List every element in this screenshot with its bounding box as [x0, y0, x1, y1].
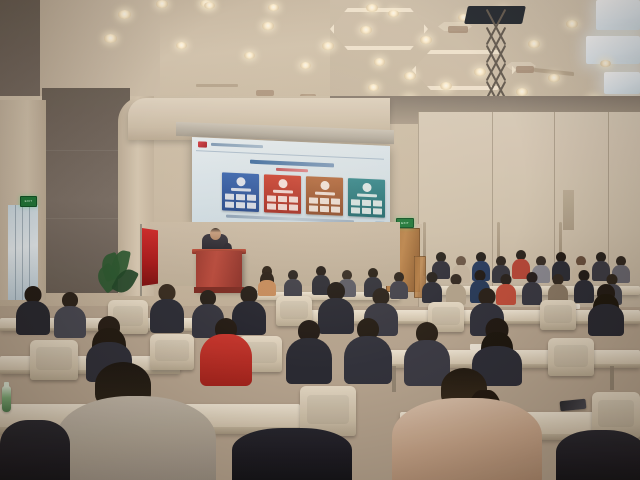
skylight-panel-3: [604, 72, 640, 94]
downlight: [176, 42, 187, 49]
skylight-panel-2: [586, 36, 640, 64]
slide-panel-blue: [222, 172, 259, 212]
lecture-hall-photo: EXIT EXIT: [0, 0, 640, 480]
downlight: [244, 52, 255, 59]
torso: [0, 420, 70, 480]
audience-member: [286, 320, 332, 382]
downlight: [528, 40, 540, 48]
panel-badge-icon: [362, 183, 371, 192]
torso: [422, 282, 442, 303]
downlight: [300, 62, 311, 69]
slide-logo-icon: [198, 141, 207, 147]
panel-grid: [351, 199, 382, 214]
downlight: [600, 60, 611, 67]
downlight: [566, 20, 578, 28]
downlight: [404, 72, 416, 80]
torso-gray-sweater: [56, 396, 216, 480]
audience-member: [422, 272, 442, 302]
slide-subtitle-bar: [276, 168, 308, 172]
torso: [232, 428, 352, 480]
panel-caption: [315, 192, 335, 196]
panel-grid: [267, 195, 298, 210]
audience-member: [284, 270, 302, 296]
torso: [556, 430, 640, 480]
torso: [284, 279, 302, 297]
slide-title-bar: [250, 160, 334, 168]
downlight: [268, 4, 279, 11]
hex-coffer-1: [330, 8, 428, 50]
downlight: [388, 10, 399, 17]
downlight: [156, 0, 168, 8]
skylight-panel-1: [596, 0, 640, 30]
torso: [286, 338, 332, 384]
downlight: [516, 88, 528, 96]
projection-screen: [192, 137, 390, 231]
downlight: [204, 2, 215, 9]
torso: [54, 306, 86, 338]
ceiling-vent-3: [448, 26, 468, 33]
slide-header-rule: [196, 150, 384, 160]
audience-member: [344, 318, 392, 382]
water-bottle[interactable]: [2, 386, 11, 412]
foreground-person-beige-hoodie: [392, 368, 542, 480]
audience-member: [54, 292, 86, 336]
presenter-head: [210, 228, 221, 240]
potted-plant: [96, 248, 138, 300]
panel-caption: [273, 190, 293, 194]
chair[interactable]: [548, 338, 594, 376]
downlight: [368, 84, 379, 91]
panel-badge-icon: [236, 177, 245, 186]
torso: [16, 301, 50, 335]
downlight: [262, 22, 274, 30]
audience-member: [588, 284, 624, 334]
audience-member: [522, 272, 542, 304]
foreground-person-gray-sweater: [56, 362, 216, 480]
foreground-person-dark-left: [0, 420, 70, 480]
panel-grid: [309, 197, 340, 212]
downlight: [420, 36, 432, 44]
podium: [196, 251, 242, 291]
downlight: [548, 74, 560, 82]
torso-beige-hoodie: [392, 398, 542, 480]
exit-sign-label: EXIT: [21, 197, 36, 205]
panel-badge-icon: [320, 181, 329, 190]
foreground-person-dark-center: [232, 428, 352, 480]
slide-panel-teal: [348, 178, 385, 218]
foreground-person-dark-right: [556, 430, 640, 480]
panel-grid: [225, 193, 256, 208]
panel-caption: [231, 188, 251, 192]
chair[interactable]: [540, 300, 576, 330]
downlight: [360, 26, 372, 34]
audience-member: [150, 284, 184, 332]
partition-vent: [563, 190, 574, 230]
torso: [344, 336, 392, 384]
flag-pole: [140, 224, 142, 296]
slide-panel-orange: [306, 176, 343, 216]
downlight: [440, 82, 452, 90]
red-flag: [142, 228, 158, 286]
panel-caption: [357, 193, 377, 197]
downlight: [118, 10, 131, 19]
ceiling-slot-1: [196, 84, 238, 87]
downlight: [322, 42, 334, 50]
torso: [150, 299, 184, 333]
panel-badge-icon: [278, 179, 287, 188]
slide-panel-red: [264, 174, 301, 214]
slide-header-text: [211, 143, 263, 148]
audience-member: [16, 286, 50, 334]
smartphone-on-table[interactable]: [560, 399, 587, 412]
downlight: [366, 4, 378, 12]
torso: [522, 282, 542, 305]
exit-sign-left: EXIT: [20, 196, 37, 207]
downlight: [374, 58, 385, 66]
table-leg: [610, 366, 614, 390]
torso: [588, 304, 624, 336]
downlight: [104, 34, 117, 43]
audience-member: [446, 274, 466, 304]
ceiling-vent-4: [516, 66, 534, 73]
